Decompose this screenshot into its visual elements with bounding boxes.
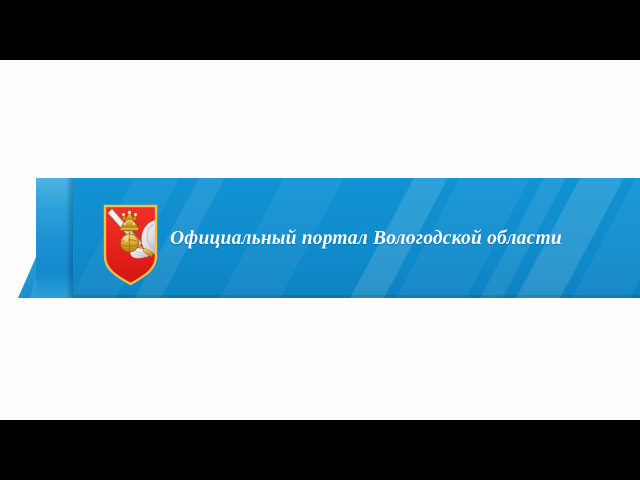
letterbox-bottom (0, 420, 640, 480)
banner-bottom-edge (72, 295, 640, 298)
video-frame: Официальный портал Вологодской области (0, 0, 640, 480)
coat-of-arms-icon[interactable] (103, 204, 158, 286)
ribbon-fold-shadow (66, 178, 73, 298)
letterbox-top (0, 0, 640, 60)
content-stage: Официальный портал Вологодской области (0, 60, 640, 420)
site-banner[interactable]: Официальный портал Вологодской области (0, 178, 640, 298)
page-title: Официальный портал Вологодской области (170, 225, 562, 253)
ribbon-fold-decoration (0, 178, 80, 298)
